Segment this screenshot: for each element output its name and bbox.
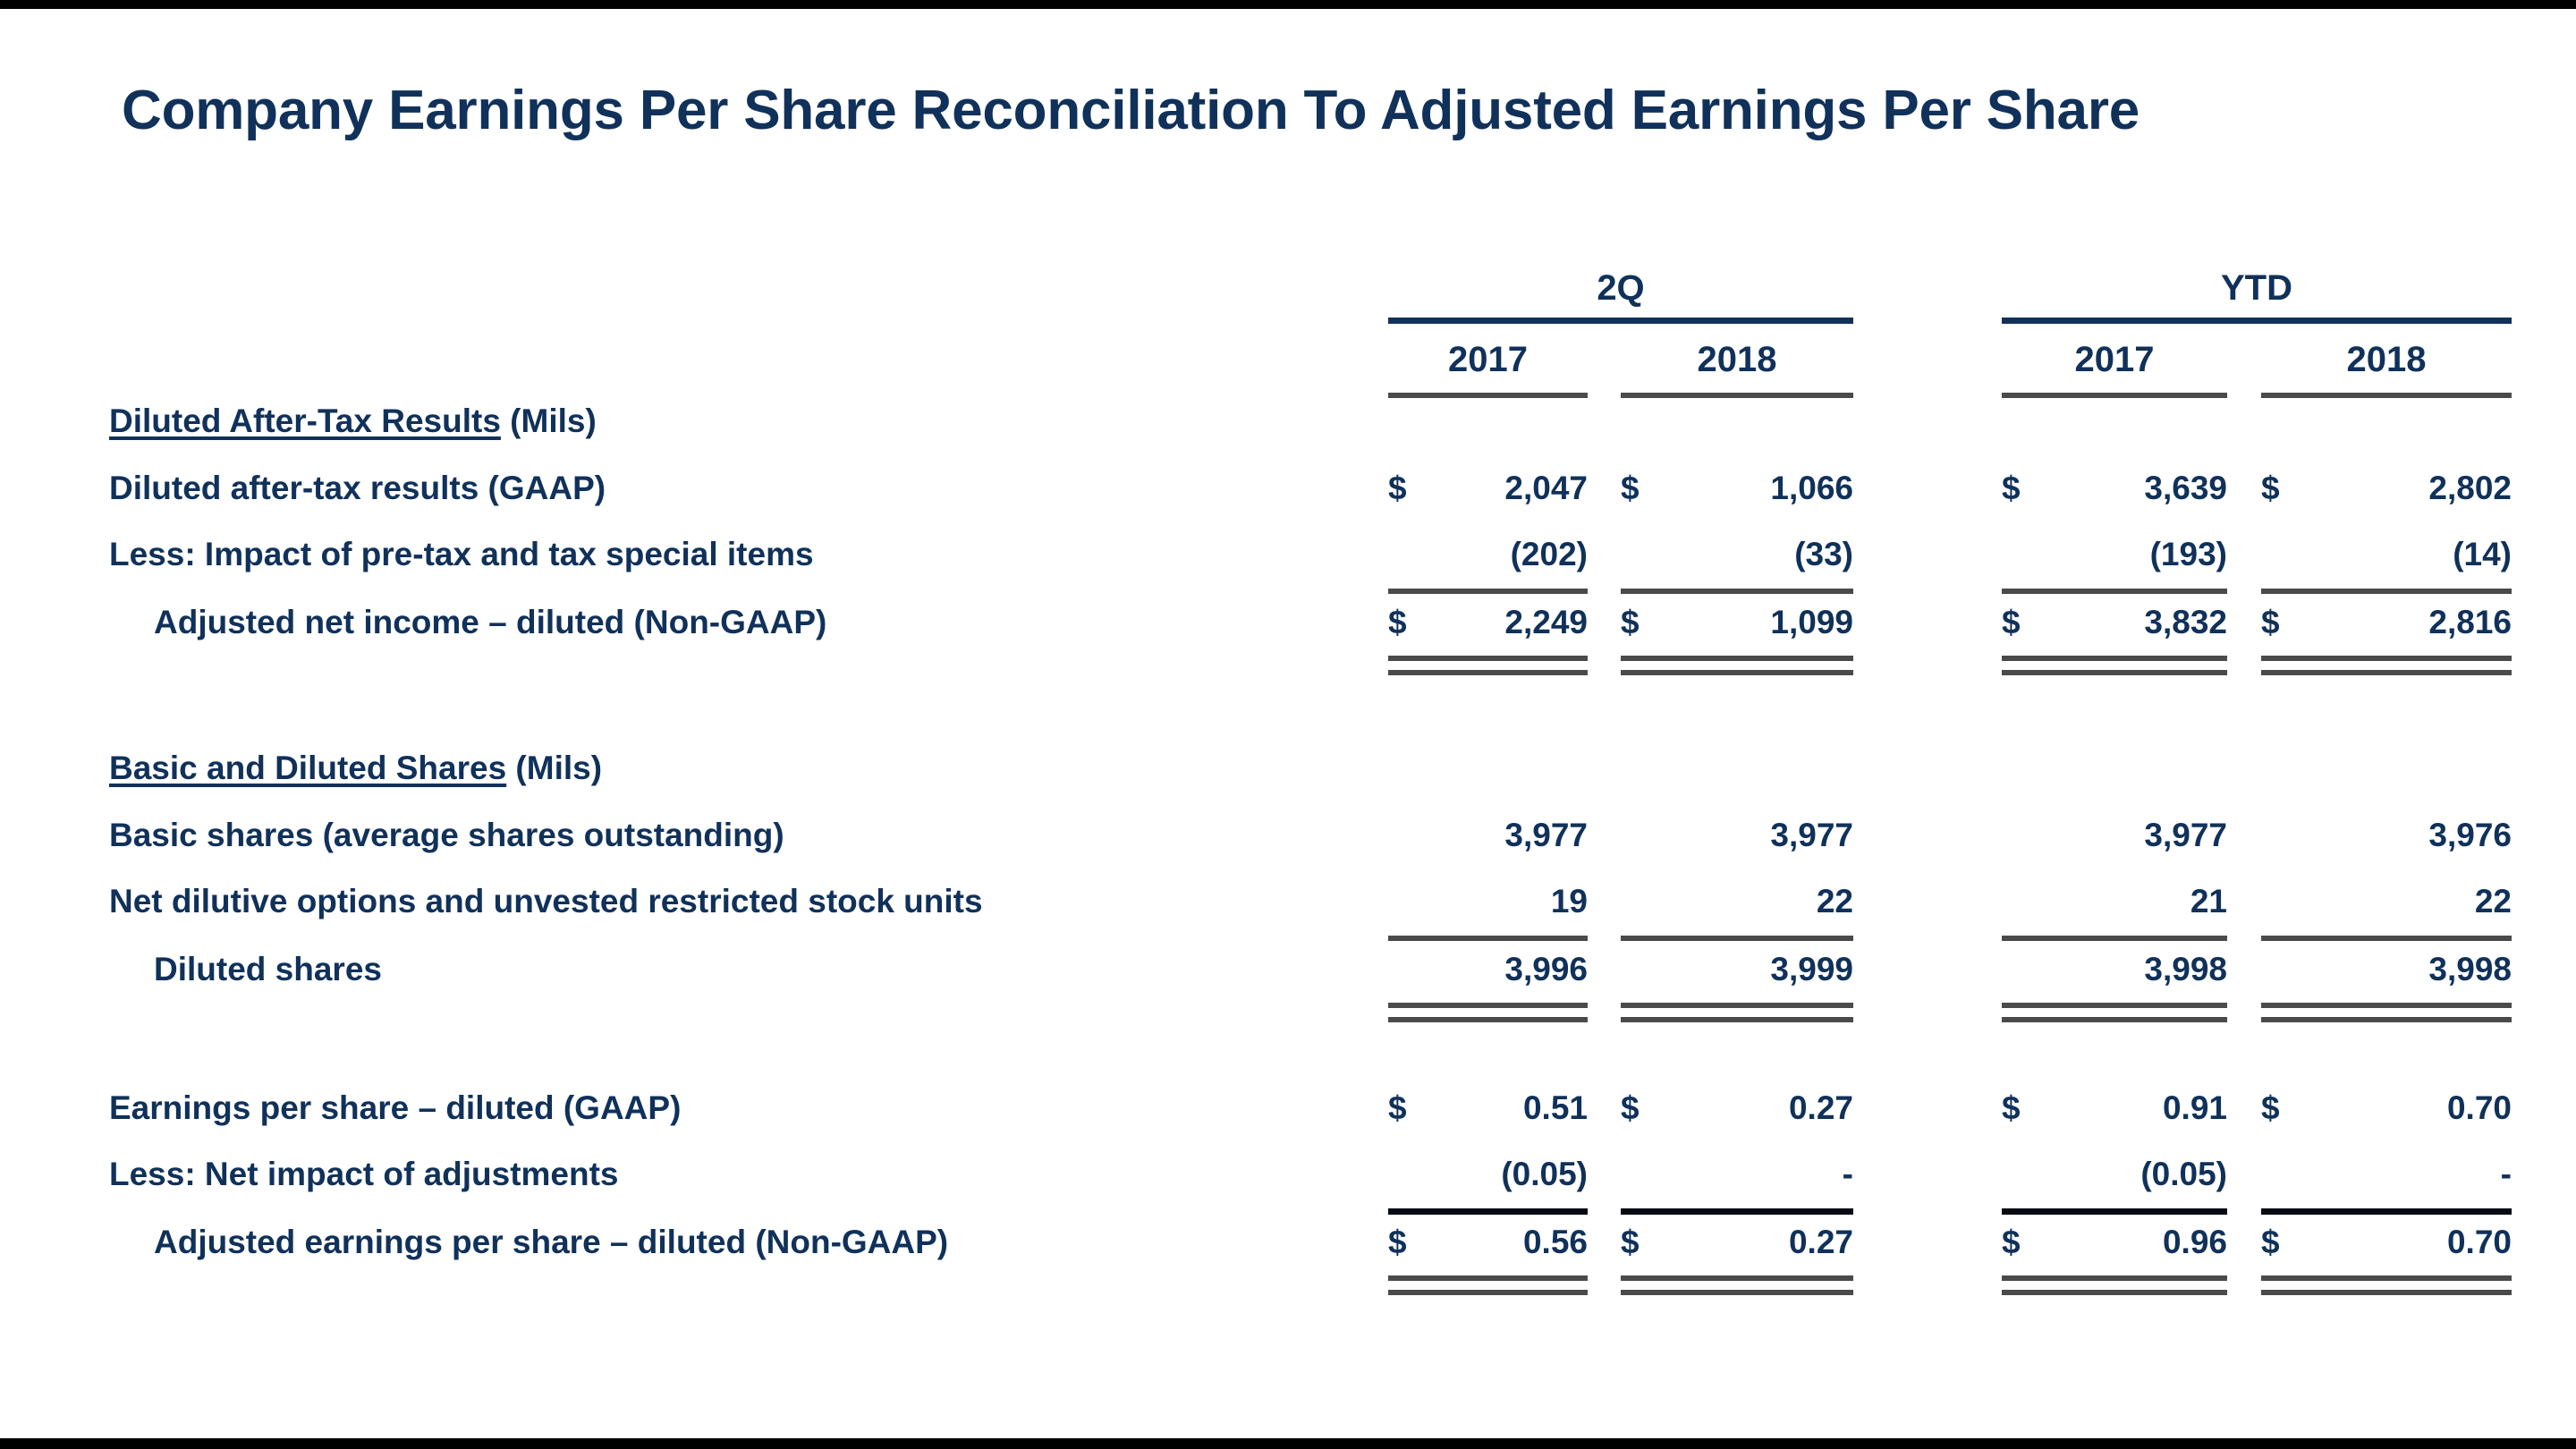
row-label-earnings-per-share-diluted-gaap: Earnings per share – diluted (GAAP): [109, 1089, 681, 1127]
cell-value: 3,639: [2002, 470, 2227, 507]
subtotal-rule: [2002, 1208, 2227, 1215]
cell-value: (0.05): [1388, 1156, 1588, 1193]
subtotal-rule: [2002, 936, 2227, 941]
cell-value: 0.27: [1621, 1089, 1853, 1127]
row-label-adjusted-net-income-diluted: Adjusted net income – diluted (Non-GAAP): [154, 604, 826, 641]
total-rule-lower: [1388, 670, 1588, 675]
section-heading-basic-and-diluted-shares: Basic and Diluted Shares (Mils): [109, 750, 602, 787]
total-rule-lower: [1388, 1290, 1588, 1295]
cell-value: 1,066: [1621, 470, 1853, 507]
slide-canvas: Company Earnings Per Share Reconciliatio…: [0, 9, 2576, 1438]
total-rule-lower: [1621, 1290, 1853, 1295]
subtotal-rule: [1621, 589, 1853, 594]
row-label-less-impact-special-items: Less: Impact of pre-tax and tax special …: [109, 536, 814, 573]
subtotal-rule: [2261, 1208, 2512, 1215]
section-heading-text: Basic and Diluted Shares: [109, 750, 506, 786]
total-rule-upper: [1388, 1003, 1588, 1008]
cell-value: 22: [2261, 883, 2512, 920]
cell-value: -: [2261, 1156, 2512, 1193]
column-header-rule-2q-2018: [1621, 393, 1853, 398]
letterbox-top-bar: [0, 0, 2576, 9]
subtotal-rule: [2261, 589, 2512, 594]
total-rule-lower: [1621, 670, 1853, 675]
column-header-ytd-2017: 2017: [2002, 340, 2227, 380]
cell-value: 0.27: [1621, 1224, 1853, 1261]
cell-value: 21: [2002, 883, 2227, 920]
cell-value: 3,996: [1388, 951, 1588, 988]
cell-value: 0.51: [1388, 1089, 1588, 1127]
row-label-basic-shares: Basic shares (average shares outstanding…: [109, 817, 784, 854]
cell-value: 1,099: [1621, 604, 1853, 641]
subtotal-rule: [1388, 1208, 1588, 1215]
subtotal-rule: [2261, 936, 2512, 941]
cell-value: 3,999: [1621, 951, 1853, 988]
group-rule-2q: [1388, 318, 1853, 324]
column-group-header-ytd: YTD: [2002, 268, 2512, 309]
section-heading-diluted-after-tax-results: Diluted After-Tax Results (Mils): [109, 402, 597, 440]
row-label-adjusted-eps-diluted-non-gaap: Adjusted earnings per share – diluted (N…: [154, 1224, 948, 1261]
letterbox-bottom-bar: [0, 1438, 2576, 1449]
column-header-ytd-2018: 2018: [2261, 340, 2512, 380]
cell-value: (33): [1621, 536, 1853, 573]
total-rule-upper: [2261, 656, 2512, 661]
section-heading-suffix: (Mils): [506, 750, 602, 786]
cell-value: 19: [1388, 883, 1588, 920]
cell-value: 0.70: [2261, 1224, 2512, 1261]
column-header-rule-ytd-2018: [2261, 393, 2512, 398]
total-rule-lower: [2261, 1017, 2512, 1022]
section-heading-text: Diluted After-Tax Results: [109, 402, 501, 439]
cell-value: 0.96: [2002, 1224, 2227, 1261]
total-rule-upper: [2002, 1275, 2227, 1281]
total-rule-upper: [1621, 656, 1853, 661]
total-rule-lower: [1388, 1017, 1588, 1022]
total-rule-upper: [2002, 656, 2227, 661]
cell-value: 0.70: [2261, 1089, 2512, 1127]
cell-value: 2,816: [2261, 604, 2512, 641]
cell-value: (202): [1388, 536, 1588, 573]
cell-value: 3,998: [2261, 951, 2512, 988]
total-rule-upper: [1388, 656, 1588, 661]
cell-value: 0.56: [1388, 1224, 1588, 1261]
section-heading-suffix: (Mils): [501, 402, 597, 439]
cell-value: 2,249: [1388, 604, 1588, 641]
cell-value: 3,977: [1388, 817, 1588, 854]
total-rule-lower: [2261, 670, 2512, 675]
subtotal-rule: [1621, 936, 1853, 941]
total-rule-lower: [2002, 1290, 2227, 1295]
total-rule-upper: [1621, 1003, 1853, 1008]
column-group-header-2q: 2Q: [1388, 268, 1853, 309]
row-label-less-net-impact-adjustments: Less: Net impact of adjustments: [109, 1156, 619, 1193]
cell-value: 3,832: [2002, 604, 2227, 641]
cell-value: 0.91: [2002, 1089, 2227, 1127]
row-label-net-dilutive-options: Net dilutive options and unvested restri…: [109, 883, 983, 920]
cell-value: 3,977: [2002, 817, 2227, 854]
cell-value: (14): [2261, 536, 2512, 573]
subtotal-rule: [1388, 936, 1588, 941]
cell-value: 2,047: [1388, 470, 1588, 507]
row-label-diluted-shares: Diluted shares: [154, 951, 382, 988]
column-header-rule-2q-2017: [1388, 393, 1588, 398]
subtotal-rule: [1388, 589, 1588, 594]
total-rule-upper: [1621, 1275, 1853, 1281]
total-rule-lower: [2002, 670, 2227, 675]
column-header-2q-2017: 2017: [1388, 340, 1588, 380]
row-label-diluted-after-tax-results-gaap: Diluted after-tax results (GAAP): [109, 470, 606, 507]
cell-value: (0.05): [2002, 1156, 2227, 1193]
group-rule-ytd: [2002, 318, 2512, 324]
cell-value: (193): [2002, 536, 2227, 573]
total-rule-upper: [2261, 1003, 2512, 1008]
total-rule-upper: [2002, 1003, 2227, 1008]
total-rule-upper: [2261, 1275, 2512, 1281]
total-rule-lower: [1621, 1017, 1853, 1022]
cell-value: 2,802: [2261, 470, 2512, 507]
total-rule-lower: [2002, 1017, 2227, 1022]
total-rule-upper: [1388, 1275, 1588, 1281]
cell-value: 3,977: [1621, 817, 1853, 854]
cell-value: 3,998: [2002, 951, 2227, 988]
column-header-2q-2018: 2018: [1621, 340, 1853, 380]
column-header-rule-ytd-2017: [2002, 393, 2227, 398]
reconciliation-table: 2Q YTD 2017 2018 2017 2018 Diluted After…: [0, 9, 2576, 1438]
cell-value: 3,976: [2261, 817, 2512, 854]
cell-value: 22: [1621, 883, 1853, 920]
total-rule-lower: [2261, 1290, 2512, 1295]
subtotal-rule: [1621, 1208, 1853, 1215]
subtotal-rule: [2002, 589, 2227, 594]
cell-value: -: [1621, 1156, 1853, 1193]
